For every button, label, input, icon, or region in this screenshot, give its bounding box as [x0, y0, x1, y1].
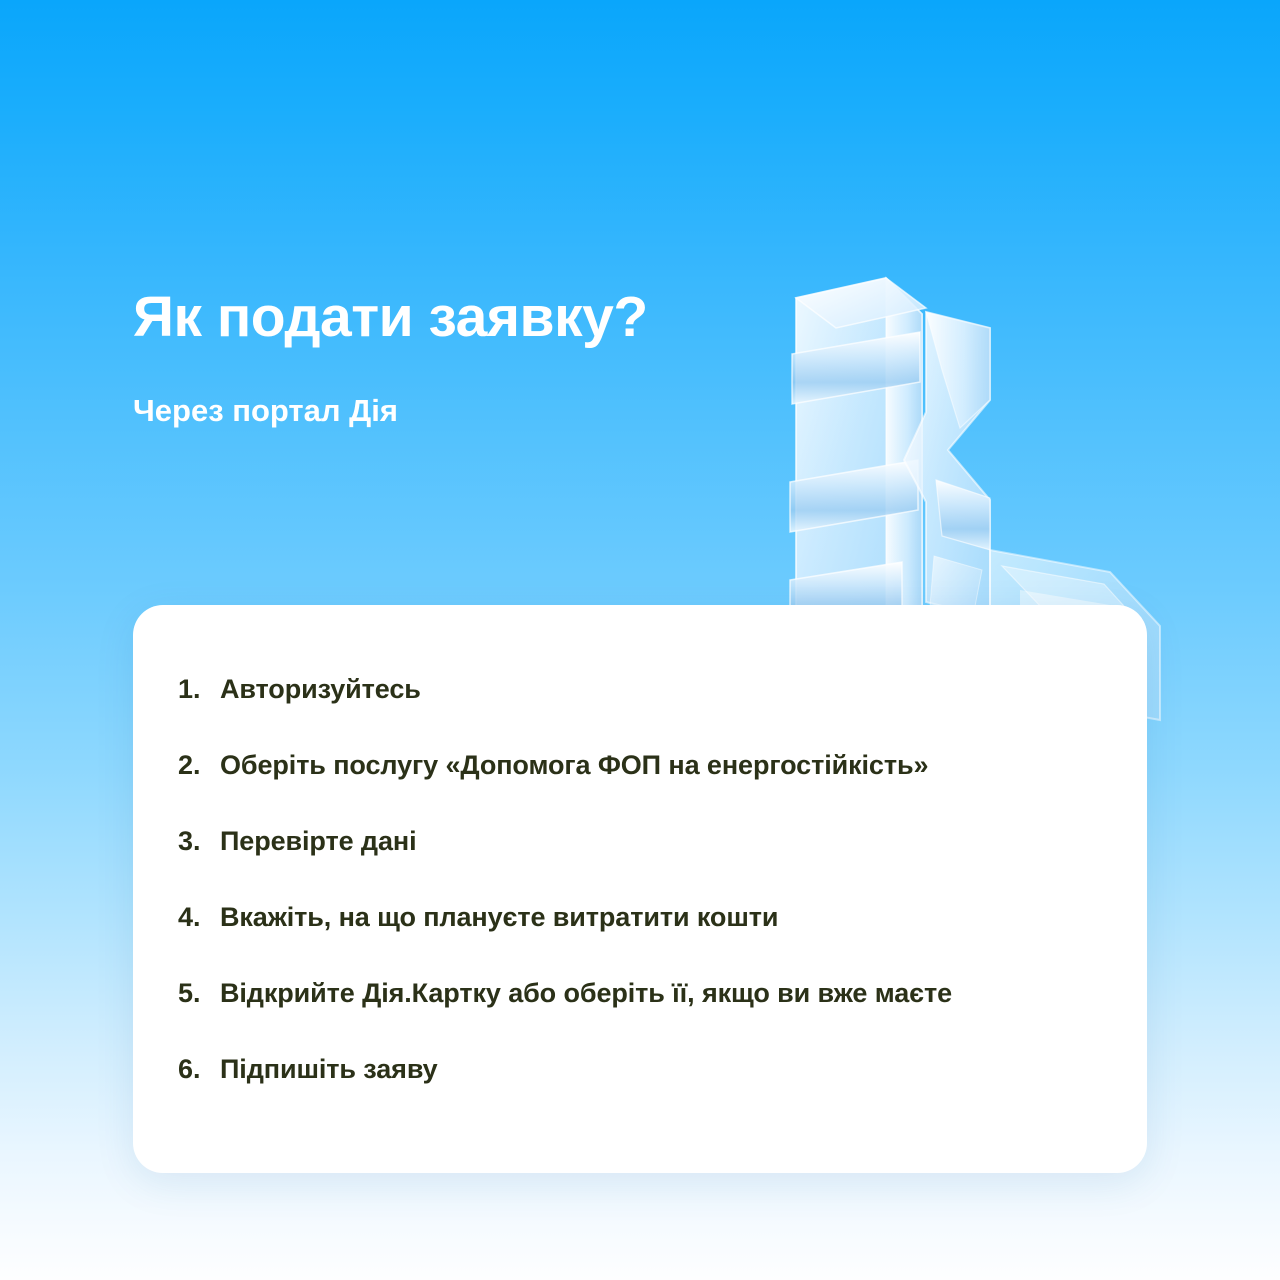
step-number: 5.: [178, 971, 220, 1016]
step-item: 5.Відкрийте Дія.Картку або оберіть її, я…: [178, 971, 1087, 1016]
page-subtitle: Через портал Дія: [133, 348, 773, 429]
step-text: Перевірте дані: [220, 819, 1087, 864]
step-text: Авторизуйтесь: [220, 667, 1087, 712]
step-number: 1.: [178, 667, 220, 712]
poster-root: Як подати заявку? Через портал Дія 1.Авт…: [0, 0, 1280, 1280]
header-block: Як подати заявку? Через портал Дія: [133, 288, 773, 429]
step-item: 4.Вкажіть, на що плануєте витратити кошт…: [178, 895, 1087, 940]
step-item: 2.Оберіть послугу «Допомога ФОП на енерг…: [178, 743, 1087, 788]
step-item: 1.Авторизуйтесь: [178, 667, 1087, 712]
step-number: 6.: [178, 1047, 220, 1092]
step-text: Вкажіть, на що плануєте витратити кошти: [220, 895, 1087, 940]
steps-card: 1.Авторизуйтесь2.Оберіть послугу «Допомо…: [133, 605, 1147, 1173]
step-text: Відкрийте Дія.Картку або оберіть її, якщ…: [220, 971, 1087, 1016]
step-number: 3.: [178, 819, 220, 864]
step-number: 4.: [178, 895, 220, 940]
glass-main-limb: [790, 278, 926, 642]
steps-list: 1.Авторизуйтесь2.Оберіть послугу «Допомо…: [133, 605, 1147, 1092]
step-item: 3.Перевірте дані: [178, 819, 1087, 864]
glass-right-limb: [904, 312, 990, 622]
step-text: Оберіть послугу «Допомога ФОП на енергос…: [220, 743, 1087, 788]
page-title: Як подати заявку?: [133, 288, 773, 348]
step-text: Підпишіть заяву: [220, 1047, 1087, 1092]
step-number: 2.: [178, 743, 220, 788]
step-item: 6.Підпишіть заяву: [178, 1047, 1087, 1092]
